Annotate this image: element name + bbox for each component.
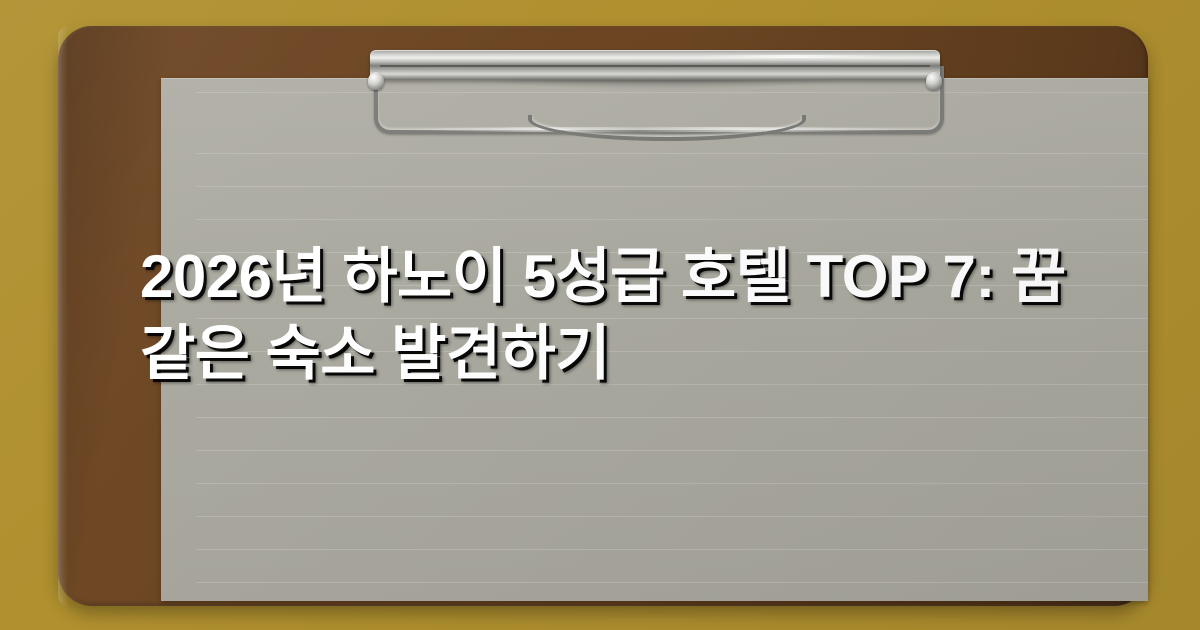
title-card-canvas: 2026년 하노이 5성급 호텔 TOP 7: 꿈 같은 숙소 발견하기 bbox=[0, 0, 1200, 630]
clip-pivot-knob-left bbox=[368, 72, 384, 90]
title-block: 2026년 하노이 5성급 호텔 TOP 7: 꿈 같은 숙소 발견하기 bbox=[140, 238, 1070, 392]
clip-pivot-knob-right bbox=[926, 72, 942, 90]
page-title: 2026년 하노이 5성급 호텔 TOP 7: 꿈 같은 숙소 발견하기 bbox=[140, 238, 1070, 392]
clip-bar-highlight bbox=[700, 55, 890, 58]
clipboard-clip bbox=[370, 50, 940, 132]
clip-metal-bar bbox=[370, 50, 940, 80]
clipboard-edge-highlight bbox=[58, 26, 68, 606]
clip-bar-groove bbox=[380, 65, 930, 67]
